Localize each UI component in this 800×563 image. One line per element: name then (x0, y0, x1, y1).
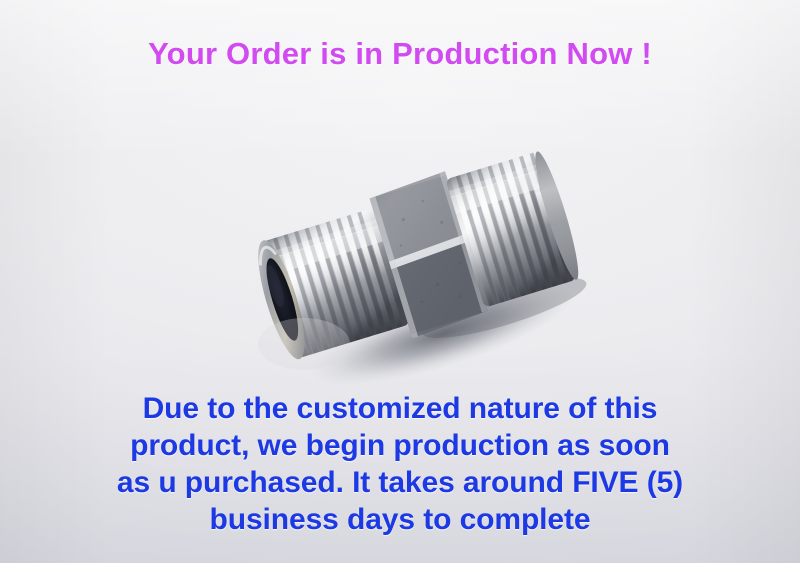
notice-line-4: business days to complete (0, 501, 800, 538)
promo-image: Your Order is in Production Now ! Due to… (0, 0, 800, 563)
headline-text: Your Order is in Production Now ! (0, 36, 800, 72)
notice-line-2: product, we begin production as soon (0, 427, 800, 464)
notice-line-1: Due to the customized nature of this (0, 390, 800, 427)
notice-line-3: as u purchased. It takes around FIVE (5) (0, 464, 800, 501)
notice-text-block: Due to the customized nature of this pro… (0, 390, 800, 538)
